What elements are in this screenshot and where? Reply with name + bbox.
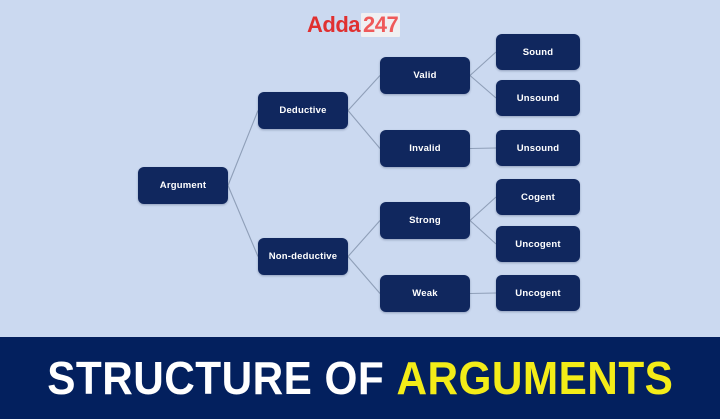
tree-edge-strong-to-uncogent-1 xyxy=(470,221,496,245)
tree-edge-argument-to-deductive xyxy=(228,111,258,186)
tree-node-unsound-1: Unsound xyxy=(496,80,580,116)
tree-node-sound: Sound xyxy=(496,34,580,70)
tree-node-cogent: Cogent xyxy=(496,179,580,215)
tree-node-uncogent-1: Uncogent xyxy=(496,226,580,262)
tree-node-label: Argument xyxy=(160,180,206,191)
tree-node-label: Non-deductive xyxy=(269,251,338,262)
banner-title: STRUCTURE OF ARGUMENTS xyxy=(47,355,673,401)
tree-node-strong: Strong xyxy=(380,202,470,239)
tree-edge-valid-to-sound xyxy=(470,52,496,76)
tree-node-label: Strong xyxy=(409,215,441,226)
tree-node-label: Deductive xyxy=(279,105,326,116)
tree-node-argument: Argument xyxy=(138,167,228,204)
tree-edge-weak-to-uncogent-2 xyxy=(470,293,496,294)
tree-connectors xyxy=(0,0,720,337)
tree-edge-strong-to-cogent xyxy=(470,197,496,221)
tree-node-non-deductive: Non-deductive xyxy=(258,238,348,275)
tree-node-label: Invalid xyxy=(409,143,441,154)
tree-node-deductive: Deductive xyxy=(258,92,348,129)
tree-node-label: Unsound xyxy=(517,93,560,104)
tree-node-label: Uncogent xyxy=(515,239,560,250)
tree-node-label: Valid xyxy=(413,70,436,81)
banner-title-white: STRUCTURE OF xyxy=(47,352,384,404)
tree-node-label: Unsound xyxy=(517,143,560,154)
tree-edge-deductive-to-valid xyxy=(348,76,380,111)
tree-node-invalid: Invalid xyxy=(380,130,470,167)
tree-node-label: Uncogent xyxy=(515,288,560,299)
tree-node-valid: Valid xyxy=(380,57,470,94)
tree-edge-invalid-to-unsound-2 xyxy=(470,148,496,149)
tree-edge-valid-to-unsound-1 xyxy=(470,76,496,99)
tree-node-label: Sound xyxy=(523,47,554,58)
title-banner: STRUCTURE OF ARGUMENTS xyxy=(0,337,720,419)
infographic-canvas: Adda247 ArgumentDeductiveNon-deductiveVa… xyxy=(0,0,720,419)
tree-edge-deductive-to-invalid xyxy=(348,111,380,149)
tree-node-label: Weak xyxy=(412,288,437,299)
tree-edge-non-deductive-to-weak xyxy=(348,257,380,294)
tree-node-label: Cogent xyxy=(521,192,555,203)
tree-edge-argument-to-non-deductive xyxy=(228,186,258,257)
banner-title-yellow: ARGUMENTS xyxy=(396,352,673,404)
tree-node-uncogent-2: Uncogent xyxy=(496,275,580,311)
tree-edge-non-deductive-to-strong xyxy=(348,221,380,257)
tree-node-weak: Weak xyxy=(380,275,470,312)
tree-node-unsound-2: Unsound xyxy=(496,130,580,166)
